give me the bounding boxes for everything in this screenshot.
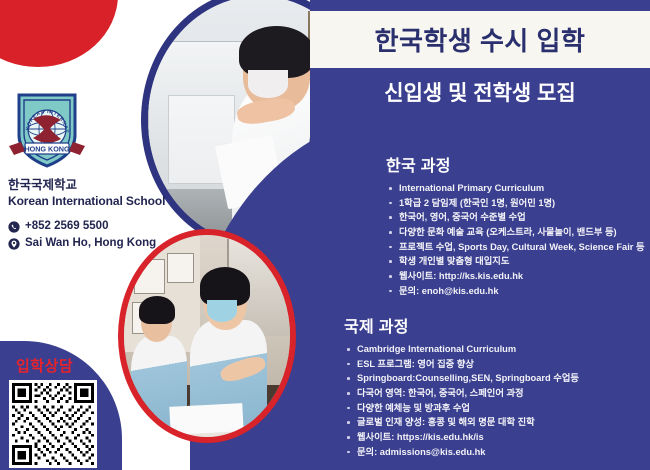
photo-art-class bbox=[118, 229, 296, 443]
page-title: 한국학생 수시 입학 bbox=[375, 21, 586, 58]
admissions-poster: 한국학생 수시 입학 신입생 및 전학생 모집 한국 과정 Internatio… bbox=[0, 0, 650, 470]
list-item: 한국어, 영어, 중국어 수준별 수업 bbox=[386, 210, 644, 225]
title-top-strip bbox=[310, 0, 650, 11]
korean-curriculum-list: International Primary Curriculum 1학급 2 담… bbox=[386, 181, 644, 299]
contact-address-text: Sai Wan Ho, Hong Kong bbox=[25, 235, 156, 252]
international-curriculum-list: Cambridge International Curriculum ESL 프… bbox=[344, 342, 644, 460]
list-item-website[interactable]: 웹사이트: https://kis.edu.hk/is bbox=[344, 430, 644, 445]
section-international-curriculum: 국제 과정 Cambridge International Curriculum… bbox=[344, 313, 644, 460]
section-heading-korean: 한국 과정 bbox=[386, 152, 644, 176]
crest-banner-text: HONG KONG bbox=[24, 144, 70, 153]
section-korean-curriculum: 한국 과정 International Primary Curriculum 1… bbox=[386, 152, 644, 299]
school-name-korean: 한국국제학교 bbox=[8, 178, 165, 194]
list-item-website[interactable]: 웹사이트: http://ks.kis.edu.hk bbox=[386, 269, 644, 284]
list-item: International Primary Curriculum bbox=[386, 181, 644, 196]
list-item: 다양한 예체능 및 방과후 수업 bbox=[344, 401, 644, 416]
list-item: 학생 개인별 맞춤형 대입지도 bbox=[386, 254, 644, 269]
location-pin-icon bbox=[8, 238, 20, 250]
contact-info: +852 2569 5500 Sai Wan Ho, Hong Kong bbox=[8, 218, 156, 253]
section-heading-international: 국제 과정 bbox=[344, 313, 644, 337]
contact-phone-row[interactable]: +852 2569 5500 bbox=[8, 218, 156, 235]
list-item: 1학급 2 담임제 (한국인 1명, 원어민 1명) bbox=[386, 196, 644, 211]
red-circle-decoration bbox=[0, 0, 118, 67]
page-subtitle: 신입생 및 전학생 모집 bbox=[384, 77, 575, 107]
list-item-email[interactable]: 문의: enoh@kis.edu.hk bbox=[386, 284, 644, 299]
list-item-email[interactable]: 문의: admissions@kis.edu.hk bbox=[344, 445, 644, 460]
school-name: 한국국제학교 Korean International School bbox=[8, 178, 165, 209]
admissions-qr-code[interactable] bbox=[9, 380, 97, 468]
list-item: Cambridge International Curriculum bbox=[344, 342, 644, 357]
title-band: 한국학생 수시 입학 bbox=[310, 11, 650, 68]
school-name-english: Korean International School bbox=[8, 194, 165, 209]
list-item: 프로젝트 수업, Sports Day, Cultural Week, Scie… bbox=[386, 240, 644, 255]
phone-icon bbox=[8, 221, 20, 233]
contact-address-row[interactable]: Sai Wan Ho, Hong Kong bbox=[8, 235, 156, 252]
list-item: 글로벌 인재 양성: 홍콩 및 해외 명문 대학 진학 bbox=[344, 415, 644, 430]
list-item: 다국어 영역: 한국어, 중국어, 스페인어 과정 bbox=[344, 386, 644, 401]
list-item: ESL 프로그램: 영어 집중 향상 bbox=[344, 357, 644, 372]
qr-label: 입학상담 bbox=[16, 355, 73, 376]
school-crest-icon: HONG KONG KOREAN INTERNATIONAL SCHOOL bbox=[7, 89, 87, 171]
list-item: Springboard:Counselling,SEN, Springboard… bbox=[344, 371, 644, 386]
list-item: 다양한 문화 예술 교육 (오케스트라, 사물놀이, 밴드부 등) bbox=[386, 225, 644, 240]
subtitle-band: 신입생 및 전학생 모집 bbox=[310, 68, 650, 116]
contact-phone-text: +852 2569 5500 bbox=[25, 218, 108, 235]
